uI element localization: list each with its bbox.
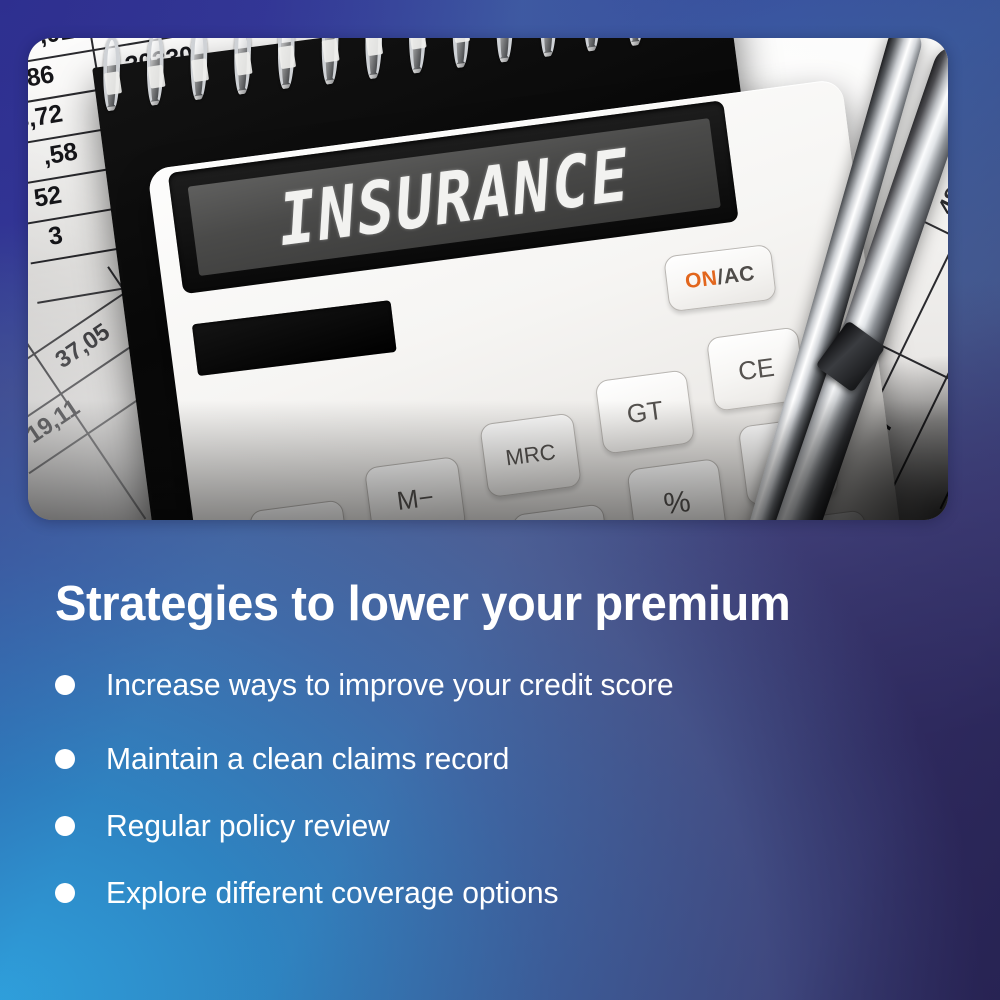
lcd-display-text: INSURANCE — [276, 131, 632, 263]
solar-panel — [192, 300, 397, 376]
photo-vignette-bottom — [28, 400, 948, 520]
bullet-dot-icon — [55, 883, 75, 903]
page-title: Strategies to lower your premium — [55, 576, 790, 632]
spiral-notch — [147, 65, 165, 89]
calc-key-on-label: ON — [684, 266, 719, 294]
hero-photo: ,010407,689,8628368,93,7230330,583225234… — [28, 38, 948, 520]
bullet-dot-icon — [55, 816, 75, 836]
list-item: Maintain a clean claims record — [55, 740, 755, 778]
bullet-dot-icon — [55, 675, 75, 695]
spiral-coil — [627, 38, 644, 47]
list-item: Regular policy review — [55, 807, 755, 845]
spiral-coil — [540, 38, 557, 58]
hero-photo-card: ,010407,689,8628368,93,7230330,583225234… — [28, 38, 948, 520]
calc-key-on-ac[interactable]: ON/AC — [663, 244, 777, 313]
spiral-coil — [583, 38, 600, 52]
list-item-label: Regular policy review — [106, 807, 390, 845]
bullet-list: Increase ways to improve your credit sco… — [55, 666, 755, 912]
list-item-label: Maintain a clean claims record — [106, 740, 509, 778]
calc-key-ac-label: /AC — [716, 262, 756, 290]
list-item: Increase ways to improve your credit sco… — [55, 666, 755, 704]
spiral-notch — [191, 58, 209, 82]
bullet-dot-icon — [55, 749, 75, 769]
spiral-binding — [98, 38, 663, 111]
spiral-coil — [496, 38, 513, 63]
list-item-label: Explore different coverage options — [106, 874, 559, 912]
spiral-notch — [278, 45, 296, 69]
spiral-notch — [365, 38, 383, 56]
list-item-label: Increase ways to improve your credit sco… — [106, 666, 673, 704]
spiral-notch — [104, 71, 122, 95]
spiral-notch — [322, 39, 340, 63]
list-item: Explore different coverage options — [55, 874, 755, 912]
spiral-notch — [235, 52, 253, 76]
